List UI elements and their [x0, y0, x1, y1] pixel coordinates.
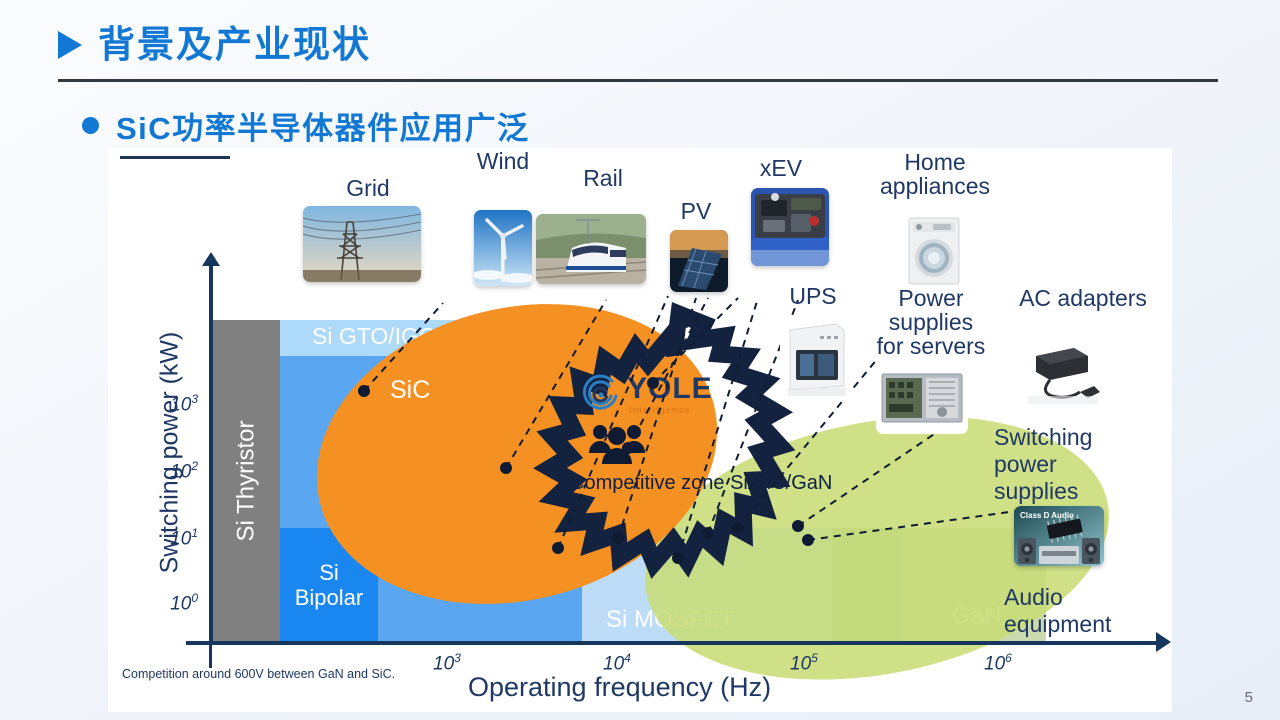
caption-home-appliances: Homeappliances — [850, 150, 1020, 198]
power-transmission-tower-photo — [303, 206, 421, 282]
bullet-dot-icon — [82, 117, 99, 134]
grid-thumbnail — [303, 206, 421, 282]
rail-thumbnail — [536, 214, 646, 284]
washing-machine-photo — [903, 214, 965, 288]
slide-title-row: 背景及产业现状 — [58, 26, 371, 63]
subtitle-row: SiC功率半导体器件应用广泛 — [82, 103, 530, 148]
caption-ac-adapters: AC adapters — [988, 286, 1172, 310]
server-psu-thumbnail — [876, 366, 968, 434]
figure-panel: Si Thyristor Si GTO/IGCT Si IGBT/IPM SiB… — [108, 148, 1172, 712]
ups-thumbnail — [780, 316, 852, 400]
play-triangle-icon — [58, 31, 82, 59]
caption-ups: UPS — [768, 284, 858, 308]
page-subtitle: SiC功率半导体器件应用广泛 — [116, 103, 530, 148]
caption-audio-equipment: Audioequipment — [1004, 584, 1172, 638]
caption-power-supplies-servers: Powersuppliesfor servers — [856, 286, 1006, 358]
application-landscape-chart: Si Thyristor Si GTO/IGCT Si IGBT/IPM SiB… — [108, 148, 1172, 712]
caption-wind: Wind — [448, 149, 558, 173]
pv-thumbnail — [670, 230, 728, 292]
caption-grid: Grid — [308, 176, 428, 200]
ups-unit-photo — [780, 316, 852, 400]
ac-adapter-photo — [1018, 336, 1108, 406]
xev-thumbnail — [751, 188, 829, 266]
audio-equipment-thumbnail: Class D Audio — [1014, 506, 1104, 566]
class-d-audio-photo: Class D Audio — [1014, 506, 1104, 566]
high-speed-train-photo — [536, 214, 646, 284]
server-psu-photo — [876, 366, 968, 434]
wind-turbine-photo — [474, 210, 532, 286]
page-number: 5 — [1245, 689, 1253, 706]
caption-rail: Rail — [548, 166, 658, 190]
caption-xev: xEV — [736, 156, 826, 180]
ac-adapter-thumbnail — [1018, 336, 1108, 406]
title-divider — [58, 79, 1218, 82]
solar-panel-photo — [670, 230, 728, 292]
electric-vehicle-engine-photo — [751, 188, 829, 266]
slide: 背景及产业现状 SiC功率半导体器件应用广泛 5 Si Thyristor Si… — [0, 0, 1280, 720]
home-appliances-thumbnail — [903, 214, 965, 288]
caption-switching-power-supplies: Switchingpowersupplies — [994, 424, 1172, 505]
wind-thumbnail — [474, 210, 532, 286]
page-title: 背景及产业现状 — [98, 26, 371, 63]
caption-pv: PV — [656, 199, 736, 223]
